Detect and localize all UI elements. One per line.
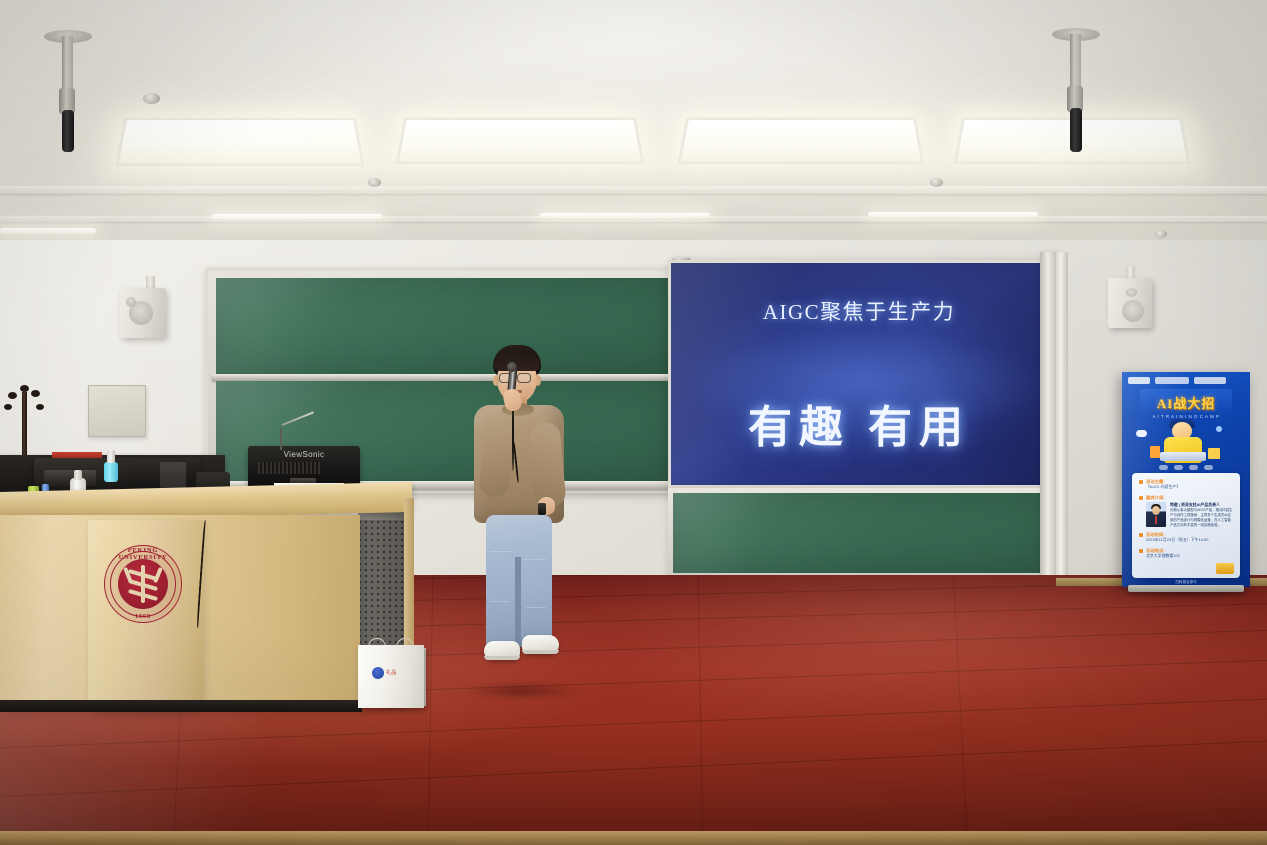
banner-section-time-body: 2024年11月29日（周五）下午14:00	[1146, 538, 1233, 544]
banner-logo-baidu	[1128, 377, 1150, 384]
banner-spark-icon	[1216, 426, 1222, 432]
chalkboard-center-rail	[212, 374, 682, 381]
banner-bullet-icon	[1139, 480, 1143, 484]
seal-glyph-stroke	[153, 567, 163, 583]
hand-sanitizer-pump	[107, 450, 115, 463]
speaker-grill-left-small	[126, 297, 136, 307]
presenter-shoe-left	[484, 641, 520, 660]
banner-dot	[1204, 465, 1213, 470]
gift-bag: 礼品	[358, 645, 424, 708]
banner-dot	[1174, 465, 1183, 470]
chalkboard-sheen-upper	[216, 278, 678, 374]
banner-section-speaker-head: 嘉宾介绍:	[1146, 495, 1233, 501]
white-bottle-cap	[74, 470, 82, 480]
seal-emblem	[118, 559, 168, 609]
shoe-sole-left	[484, 656, 520, 660]
banner-book-icon	[1150, 446, 1160, 458]
projection-screen: AIGC聚焦于生产力 有趣 有用 内容生产创作工具	[668, 260, 1050, 488]
projector-head-left	[62, 110, 74, 152]
banner-speaker-bio-text: 特邀 | 资深支柱AI产品负责人 长期从事大模型与AIGC产品，推动内容生产与创…	[1170, 502, 1233, 528]
banner-stand-base	[1128, 585, 1244, 592]
coat-rack-hook	[20, 385, 29, 392]
shoe-sole-right	[522, 650, 559, 654]
banner-section-location: 活动地点: 北京大学理教楼102	[1139, 548, 1233, 560]
speaker-grill-right-small	[1126, 288, 1137, 297]
banner-bullet-icon	[1139, 549, 1143, 553]
seal-text-bottom: 1898	[104, 614, 182, 620]
presenter-hair-fringe	[494, 353, 540, 371]
speaker-photo-hair	[1151, 504, 1161, 509]
monitor-vent	[258, 462, 320, 474]
gift-bag-logo-text: 礼品	[386, 669, 396, 676]
banner-speaker-title: 特邀 | 资深支柱AI产品负责人	[1170, 502, 1233, 508]
banner-title-box: AI战大招	[1140, 389, 1232, 415]
banner-section-topic-head: 活动主题:	[1146, 479, 1233, 485]
banner-section-location-body: 北京大学理教楼102	[1146, 554, 1233, 560]
slide-title: AIGC聚焦于生产力	[671, 296, 1047, 326]
jeans-fold	[490, 601, 510, 602]
lecture-hall-photo: AIGC聚焦于生产力 有趣 有用 内容生产创作工具	[0, 0, 1267, 845]
banner-cloud-icon	[1136, 430, 1147, 437]
lower-chalkboard-panel	[673, 493, 1051, 573]
banner-character-body	[1164, 437, 1202, 463]
ceiling-light-tube-1	[212, 214, 382, 219]
banner-info-card: 活动主题: 《AIGC:内容生产》 嘉宾介绍: 特邀 | 资深支柱AI产品负责人…	[1132, 473, 1240, 578]
banner-character-hat	[1169, 419, 1195, 428]
coat-rack-hook	[31, 390, 40, 397]
ceiling-sprinkler-2	[368, 178, 381, 187]
banner-section-time: 活动时间: 2024年11月29日（周五）下午14:00	[1139, 532, 1233, 544]
coat-rack-hook	[36, 404, 44, 410]
slide-content: AIGC聚焦于生产力 有趣 有用 内容生产创作工具	[671, 263, 1047, 485]
presenter	[460, 345, 580, 690]
banner-section-location-head: 活动地点:	[1146, 548, 1233, 554]
banner-speaker-description: 长期从事大模型与AIGC产品，推动内容生产与创作工具落地，主导多个生成式AI应用…	[1170, 508, 1233, 528]
ceiling-sprinkler-1	[143, 93, 160, 104]
wall-access-panel	[88, 385, 146, 437]
banner-section-topic-body: 《AIGC:内容生产》	[1146, 485, 1233, 491]
banner-speaker-photo	[1146, 502, 1166, 527]
banner-section-time-head: 活动时间:	[1146, 532, 1233, 538]
ceiling-light-tube-3	[868, 212, 1038, 217]
ceiling-sprinkler-4	[1155, 230, 1167, 238]
jeans-fold	[524, 559, 546, 560]
coat-rack-hook	[8, 392, 17, 399]
presentation-clicker	[538, 503, 546, 515]
ceiling-light-panel-3	[677, 118, 924, 164]
presenter-glasses-right-lens	[517, 373, 531, 383]
banner-coin-graphic	[1216, 563, 1234, 574]
floor-front-trim	[0, 831, 1267, 845]
ceiling-beam-upper	[0, 186, 1267, 194]
wall-speaker-left	[120, 288, 166, 338]
projector-head-right	[1070, 108, 1082, 152]
ceiling-light-tube-2	[540, 213, 710, 218]
ceiling-light-panel-1	[115, 118, 365, 166]
gooseneck-mic-pole	[280, 428, 282, 450]
banner-book-icon	[1208, 448, 1220, 459]
projector-mount-pole-right	[1070, 34, 1081, 90]
speaker-photo-face	[1152, 506, 1160, 515]
gift-bag-logo: 礼品	[372, 667, 406, 679]
speaker-grill-right-large	[1122, 300, 1144, 322]
ceiling-light-panel-2	[395, 118, 644, 164]
banner-section-topic: 活动主题: 《AIGC:内容生产》	[1139, 479, 1233, 491]
university-seal: PEKING UNIVERSITY 1898	[104, 545, 182, 623]
microphone-capsule	[507, 362, 517, 372]
coat-rack-hook	[4, 404, 12, 410]
banner-illustration	[1150, 422, 1222, 462]
ceiling-light-tube-4	[0, 228, 96, 234]
banner-logo-tertiary	[1194, 377, 1226, 384]
ceiling-sprinkler-3	[930, 178, 943, 187]
jeans-fold	[490, 551, 512, 552]
presenter-shoe-right	[522, 635, 559, 654]
presenter-jeans-inseam	[515, 557, 521, 649]
slide-headline: 有趣 有用	[671, 391, 1047, 455]
lower-chalkboard	[668, 488, 1056, 580]
wall-speaker-right	[1108, 278, 1152, 328]
chalkboard-upper-panel	[216, 278, 678, 374]
banner-tab-dots	[1146, 464, 1226, 471]
hand-sanitizer-bottle	[104, 462, 118, 482]
presenter-ear-right	[535, 375, 541, 386]
chalkboard-slide-track-right-inner	[1056, 252, 1068, 590]
banner-logo-secondary	[1155, 377, 1189, 384]
jeans-fold	[526, 607, 546, 608]
speaker-photo-tie	[1155, 516, 1157, 524]
seal-text-top: PEKING UNIVERSITY	[104, 547, 182, 561]
banner-section-speaker: 嘉宾介绍: 特邀 | 资深支柱AI产品负责人 长期从事大模型与AIGC产品，推动…	[1139, 495, 1233, 528]
banner-bullet-icon	[1139, 496, 1143, 500]
banner-character-laptop	[1160, 452, 1206, 461]
banner-title: AI战大招	[1157, 393, 1215, 412]
monitor-brand-label: ViewSonic	[248, 450, 360, 459]
rollup-banner: AI战大招 A I T R A I N I N G C A M P 活动主题: …	[1122, 372, 1250, 587]
banner-dot	[1159, 465, 1168, 470]
banner-speaker-bio-row: 特邀 | 资深支柱AI产品负责人 长期从事大模型与AIGC产品，推动内容生产与创…	[1146, 502, 1233, 528]
banner-character-head	[1172, 422, 1192, 440]
projector-mount-pole-left	[62, 36, 73, 92]
gift-bag-logo-mark	[372, 667, 384, 679]
banner-dot	[1189, 465, 1198, 470]
banner-sponsor-logos	[1128, 376, 1244, 385]
lower-chalkboard-sheen	[673, 493, 1051, 573]
banner-subtitle: A I T R A I N I N G C A M P	[1122, 414, 1250, 419]
podium-base-kick	[0, 700, 362, 712]
banner-bullet-icon	[1139, 533, 1143, 537]
